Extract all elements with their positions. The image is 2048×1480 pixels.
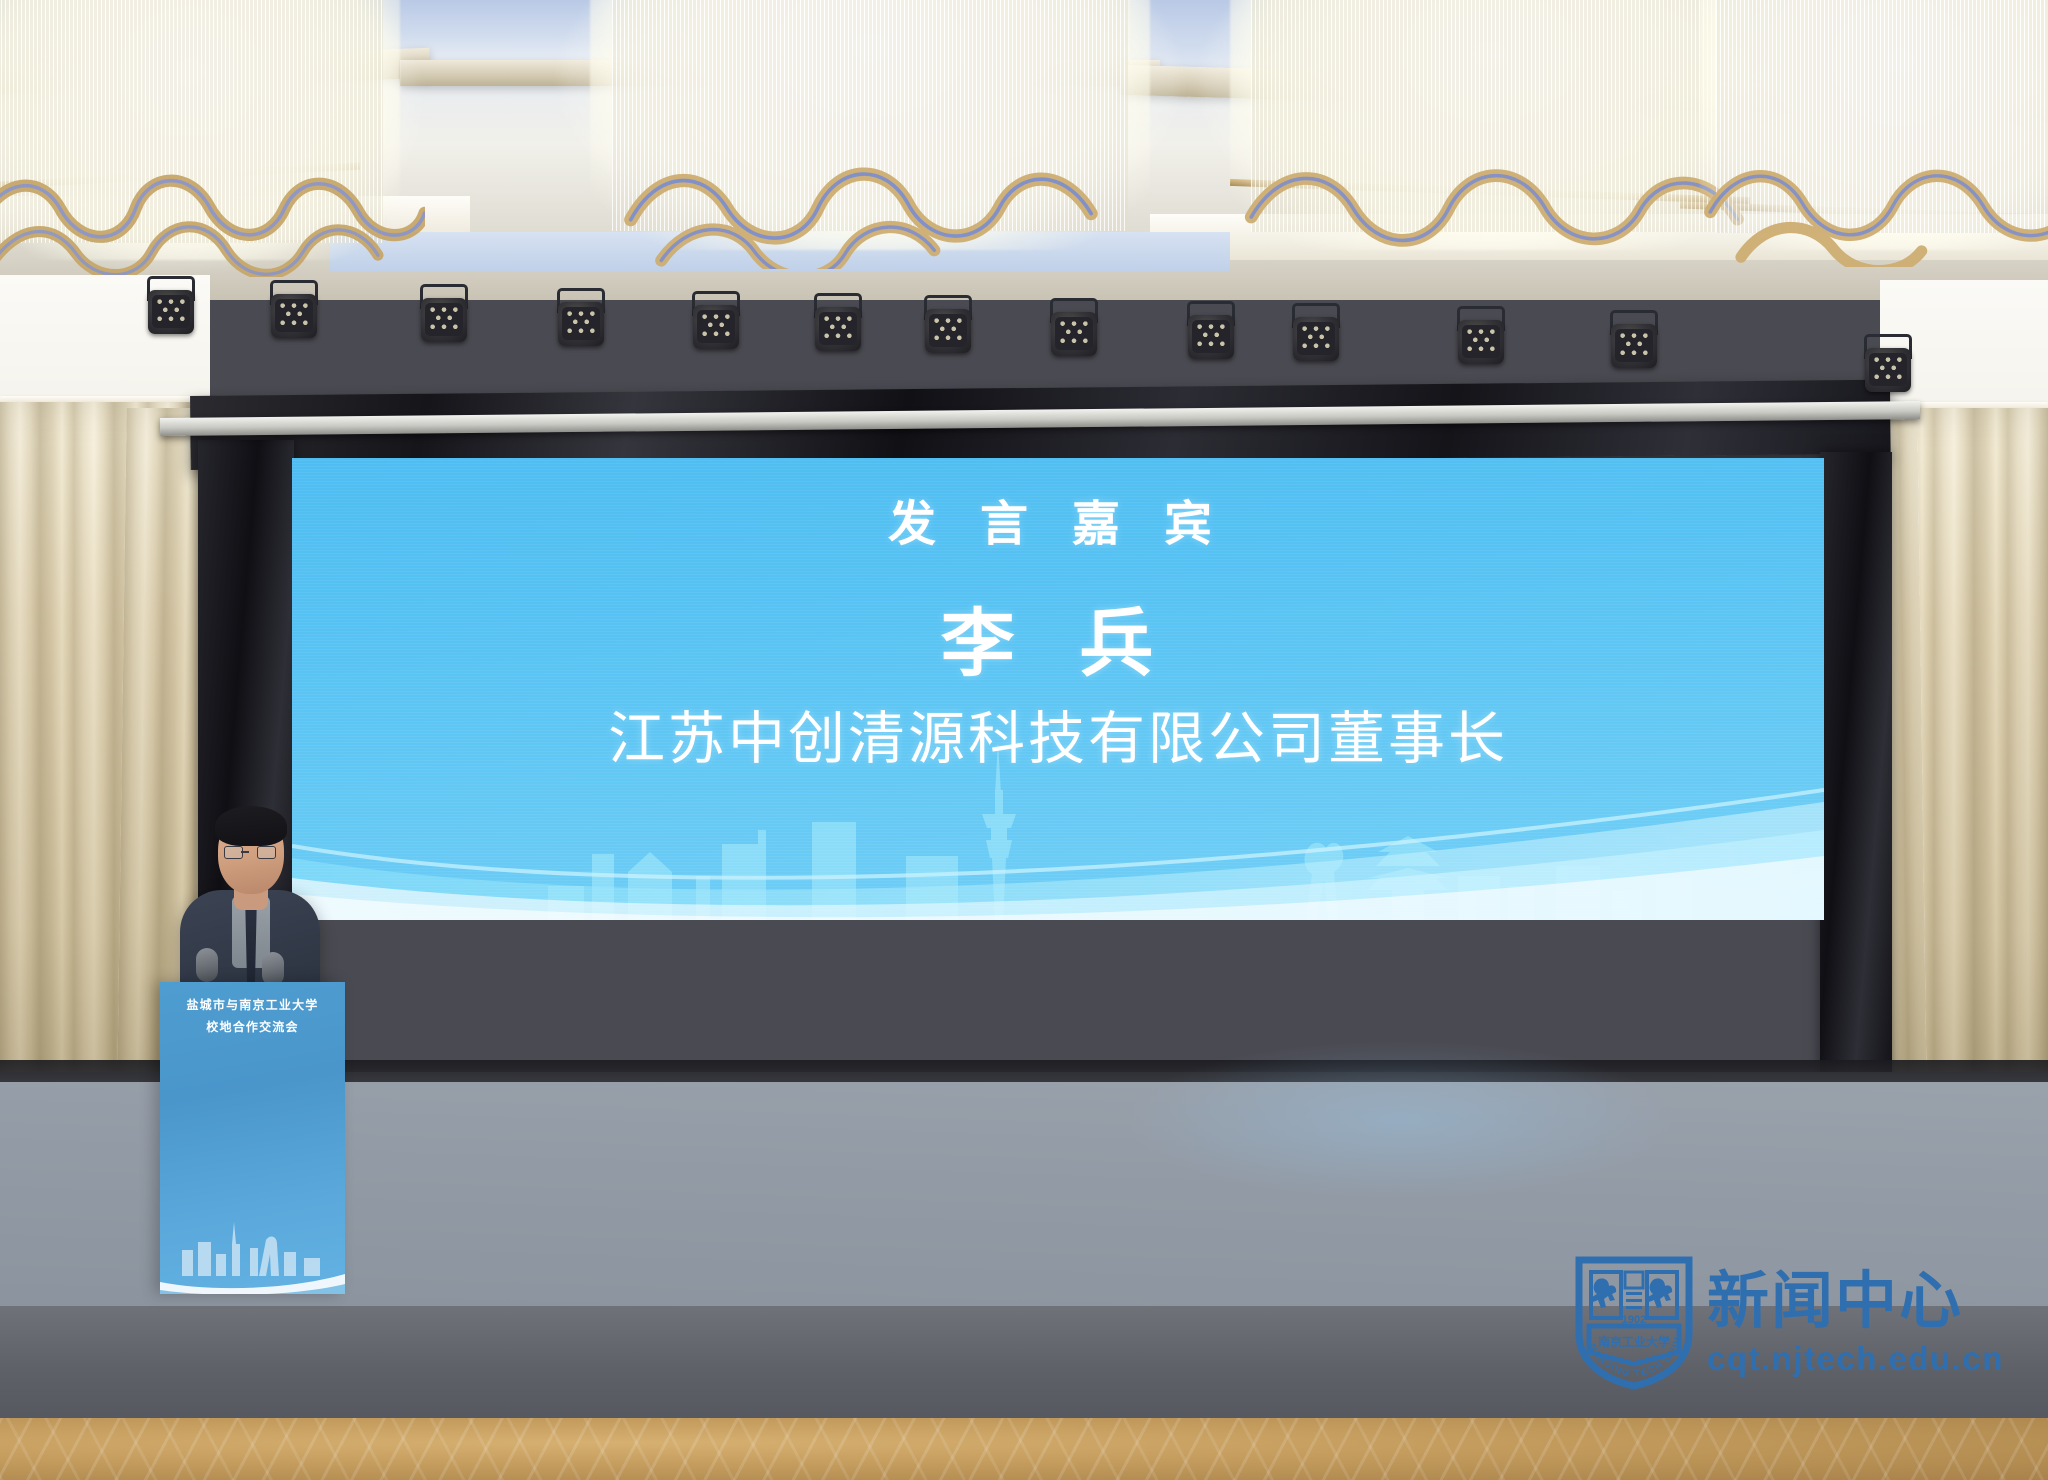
chandelier-wave-ornament (1700, 134, 2048, 267)
par-can-light[interactable] (1862, 346, 1914, 392)
par-can-light[interactable] (922, 307, 974, 353)
conference-photo: 发 言 嘉 宾 李 兵 江苏中创清源科技有限公司董事长 盐城市与南京工业大学 校… (0, 0, 2048, 1480)
par-can-light[interactable] (145, 288, 197, 334)
nanjing-tech-crest-icon: 1902 南京工业大学 NANJING TECH UNIVERSITY (1575, 1256, 1693, 1390)
par-can-light[interactable] (1048, 310, 1100, 356)
podium: 盐城市与南京工业大学 校地合作交流会 (160, 982, 345, 1294)
screen-speaker-name: 李 兵 (292, 584, 1824, 691)
par-can-light[interactable] (690, 303, 742, 349)
podium-skyline-graphic (160, 1216, 345, 1294)
crest-cn-label: 南京工业大学 (1598, 1334, 1670, 1349)
podium-title-line2: 校地合作交流会 (160, 1018, 345, 1035)
speaker-glasses (224, 846, 276, 858)
crystal-chandelier (1700, 0, 2048, 250)
chandelier-wave-ornament (0, 144, 425, 277)
par-can-light[interactable] (1185, 313, 1237, 359)
par-can-light[interactable] (418, 296, 470, 342)
par-can-light[interactable] (1608, 322, 1660, 368)
par-can-light[interactable] (1455, 318, 1507, 364)
podium-title-line1: 盐城市与南京工业大学 (160, 996, 345, 1013)
par-can-light[interactable] (1290, 315, 1342, 361)
watermark-cn-label: 新闻中心 (1707, 1271, 2004, 1333)
led-screen-main: 发 言 嘉 宾 李 兵 江苏中创清源科技有限公司董事长 (292, 458, 1824, 920)
par-can-light[interactable] (812, 305, 864, 351)
marble-side-right (1820, 452, 1892, 1082)
speaker-hair (215, 806, 287, 846)
screen-heading: 发 言 嘉 宾 (292, 484, 1824, 554)
crystal-chandelier (0, 0, 400, 260)
chandelier-wave-ornament (590, 126, 1160, 269)
hall-carpet (0, 1418, 2048, 1480)
news-center-watermark: 1902 南京工业大学 NANJING TECH UNIVERSITY 新闻中心… (1575, 1256, 2004, 1390)
watermark-url: cqt.njtech.edu.cn (1707, 1342, 2004, 1375)
crystal-chandelier (590, 0, 1150, 250)
crystal-chandelier (1230, 0, 1750, 250)
par-can-light[interactable] (555, 300, 607, 346)
screen-speaker-org: 江苏中创清源科技有限公司董事长 (292, 693, 1824, 775)
par-can-light[interactable] (268, 292, 320, 338)
